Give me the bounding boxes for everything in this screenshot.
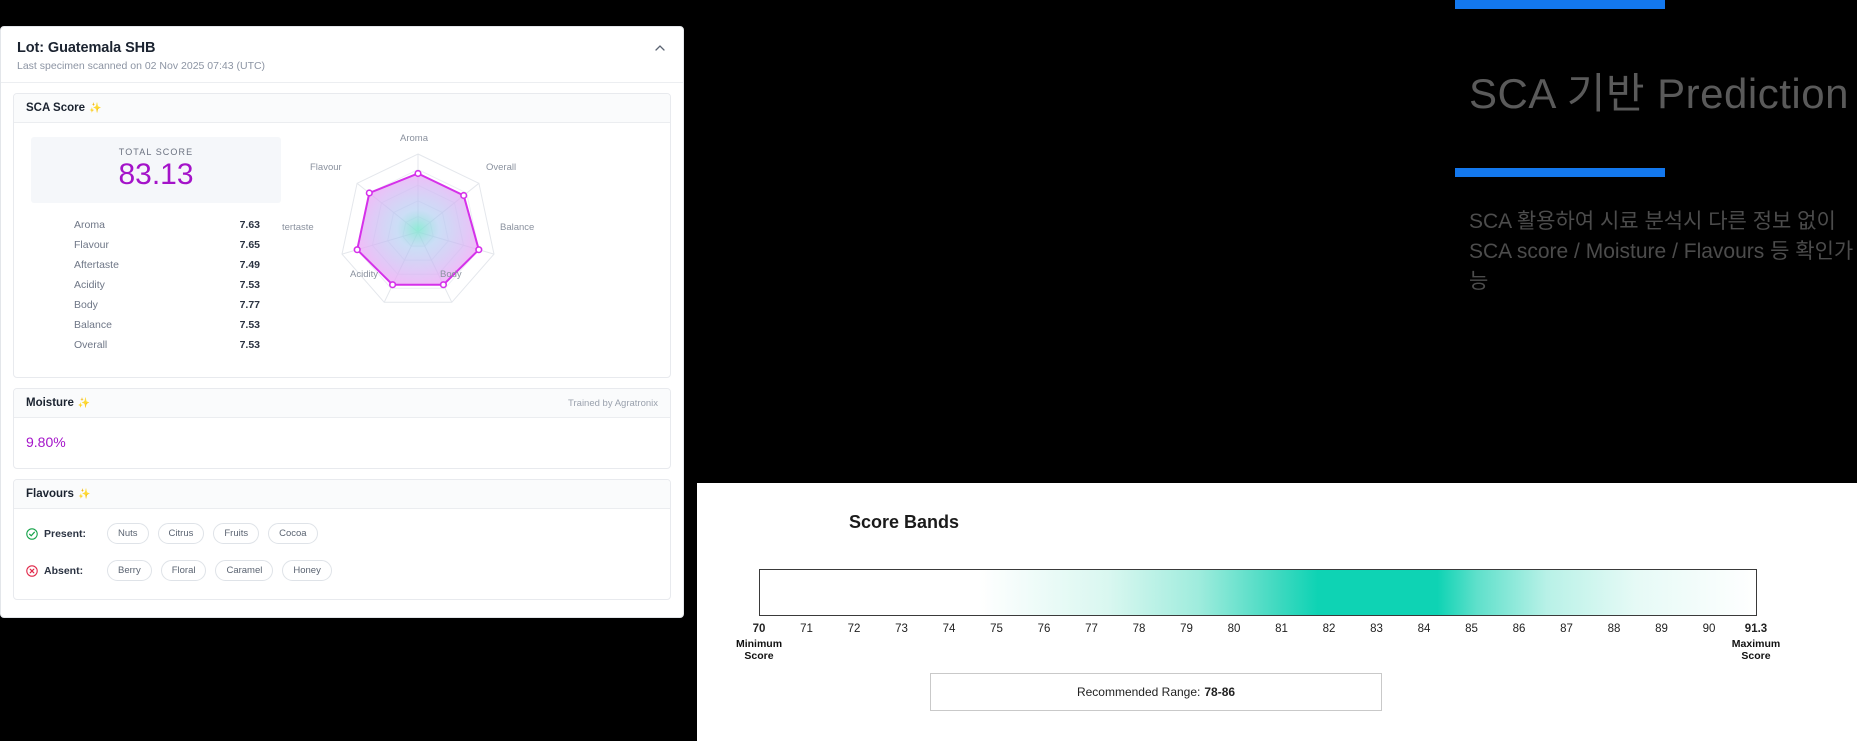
slide-subtitle: SCA 활용하여 시료 분석시 다른 정보 없이 SCA score / Moi… [1469, 205, 1857, 295]
moisture-title-text: Moisture [26, 397, 74, 409]
flavour-chip[interactable]: Cocoa [268, 523, 317, 544]
flavours-absent-label: Absent: [26, 565, 98, 577]
max-score-line2: Score [1741, 650, 1770, 662]
table-row: Balance 7.53 [74, 315, 260, 335]
axis-tick: 80 [1228, 623, 1241, 635]
sca-score-title-text: SCA Score [26, 102, 85, 114]
axis-tick: 78 [1133, 623, 1146, 635]
flavour-chip[interactable]: Fruits [213, 523, 259, 544]
radar-label-flavour: Flavour [310, 162, 342, 173]
sca-score-left: TOTAL SCORE 83.13 Aroma 7.63 Flavour 7.6… [26, 137, 284, 355]
sparkle-icon: ✨ [89, 103, 101, 114]
attribute-value: 7.49 [240, 259, 260, 271]
slide-title: SCA 기반 Prediction [1469, 60, 1849, 121]
recommended-range-value: 78-86 [1204, 685, 1235, 699]
attribute-value: 7.53 [240, 279, 260, 291]
axis-tick: 70 [753, 623, 766, 635]
flavours-present-label: Present: [26, 528, 98, 540]
sparkle-icon: ✨ [78, 489, 90, 500]
moisture-body: 9.80% [14, 418, 670, 468]
absent-label-text: Absent: [44, 565, 83, 577]
axis-tick: 79 [1180, 623, 1193, 635]
attribute-value: 7.53 [240, 339, 260, 351]
radar-label-acidity: Acidity [350, 269, 378, 280]
flavours-absent-row: Absent: Berry Floral Caramel Honey [26, 560, 658, 581]
sca-score-title: SCA Score ✨ [26, 102, 101, 114]
lot-card-header: Lot: Guatemala SHB Last specimen scanned… [1, 27, 683, 83]
radar-chart: Aroma Overall Balance Body Acidity terta… [288, 137, 548, 327]
moisture-title: Moisture ✨ [26, 397, 90, 409]
total-score-value: 83.13 [31, 158, 281, 191]
last-scanned-text: Last specimen scanned on 02 Nov 2025 07:… [17, 60, 667, 72]
radar-label-overall: Overall [486, 162, 516, 173]
sca-score-right: Aroma Overall Balance Body Acidity terta… [284, 137, 658, 355]
total-score-label: TOTAL SCORE [31, 147, 281, 157]
axis-tick: 90 [1703, 623, 1716, 635]
table-row: Flavour 7.65 [74, 235, 260, 255]
flavour-chip[interactable]: Honey [282, 560, 331, 581]
attribute-name: Aftertaste [74, 259, 119, 271]
table-row: Body 7.77 [74, 295, 260, 315]
sparkle-icon: ✨ [78, 398, 90, 409]
score-bands-panel: Score Bands 70 71 72 73 74 75 76 77 78 7… [697, 483, 1857, 741]
recommended-range-box: Recommended Range: 78-86 [930, 673, 1382, 711]
max-score-line1: Maximum [1732, 638, 1780, 650]
table-row: Acidity 7.53 [74, 275, 260, 295]
axis-tick: 72 [848, 623, 861, 635]
presentation-slide: SCA 기반 Prediction SCA 활용하여 시료 분석시 다른 정보 … [697, 0, 1857, 483]
attribute-name: Body [74, 299, 98, 311]
flavour-chip[interactable]: Berry [107, 560, 152, 581]
accent-bar-top [1455, 0, 1665, 9]
axis-tick: 73 [895, 623, 908, 635]
flavours-title: Flavours ✨ [26, 488, 90, 500]
axis-tick: 76 [1038, 623, 1051, 635]
sca-score-header: SCA Score ✨ [14, 94, 670, 123]
sca-attribute-list: Aroma 7.63 Flavour 7.65 Aftertaste 7.49 [26, 215, 284, 355]
axis-tick: 74 [943, 623, 956, 635]
attribute-name: Acidity [74, 279, 105, 291]
axis-tick: 84 [1418, 623, 1431, 635]
min-score-caption: Minimum Score [736, 638, 782, 662]
lot-card: Lot: Guatemala SHB Last specimen scanned… [0, 26, 684, 618]
chevron-up-icon[interactable] [653, 41, 667, 55]
axis-tick: 75 [990, 623, 1003, 635]
left-app-panel: Lot: Guatemala SHB Last specimen scanned… [0, 0, 697, 741]
attribute-value: 7.77 [240, 299, 260, 311]
total-score-box: TOTAL SCORE 83.13 [31, 137, 281, 203]
attribute-name: Aroma [74, 219, 105, 231]
moisture-section: Moisture ✨ Trained by Agratronix 9.80% [13, 388, 671, 469]
attribute-value: 7.65 [240, 239, 260, 251]
axis-tick: 88 [1608, 623, 1621, 635]
radar-label-aroma: Aroma [400, 133, 428, 144]
sca-score-section: SCA Score ✨ TOTAL SCORE 83.13 Aroma 7.63 [13, 93, 671, 378]
axis-tick: 83 [1370, 623, 1383, 635]
flavour-chip[interactable]: Caramel [215, 560, 273, 581]
check-circle-icon [26, 528, 38, 540]
table-row: Overall 7.53 [74, 335, 260, 355]
sca-score-body: TOTAL SCORE 83.13 Aroma 7.63 Flavour 7.6… [14, 123, 670, 377]
score-bands-gradient-bar [759, 569, 1757, 616]
accent-bar-middle [1455, 168, 1665, 177]
min-score-line1: Minimum [736, 638, 782, 650]
attribute-value: 7.63 [240, 219, 260, 231]
moisture-header: Moisture ✨ Trained by Agratronix [14, 389, 670, 418]
flavour-chip[interactable]: Nuts [107, 523, 149, 544]
radar-label-balance: Balance [500, 222, 534, 233]
flavour-chip[interactable]: Floral [161, 560, 207, 581]
page-title: Lot: Guatemala SHB [17, 40, 667, 56]
present-label-text: Present: [44, 528, 86, 540]
x-circle-icon [26, 565, 38, 577]
max-score-caption: Maximum Score [1732, 638, 1780, 662]
axis-tick: 77 [1085, 623, 1098, 635]
table-row: Aftertaste 7.49 [74, 255, 260, 275]
attribute-value: 7.53 [240, 319, 260, 331]
table-row: Aroma 7.63 [74, 215, 260, 235]
trained-by-label: Trained by Agratronix [568, 398, 658, 409]
attribute-name: Overall [74, 339, 107, 351]
axis-tick: 91.3 [1745, 623, 1767, 635]
moisture-value: 9.80% [26, 434, 658, 450]
radar-label-aftertaste: tertaste [282, 222, 314, 233]
flavours-body: Present: Nuts Citrus Fruits Cocoa Absent… [14, 509, 670, 599]
flavours-header: Flavours ✨ [14, 480, 670, 509]
attribute-name: Balance [74, 319, 112, 331]
chart-title: Score Bands [849, 512, 959, 533]
axis-tick: 87 [1560, 623, 1573, 635]
axis-tick: 82 [1323, 623, 1336, 635]
flavours-section: Flavours ✨ Present: Nuts Citrus Fruit [13, 479, 671, 600]
flavours-title-text: Flavours [26, 488, 74, 500]
axis-tick: 86 [1513, 623, 1526, 635]
recommended-range-prefix: Recommended Range: [1077, 685, 1200, 699]
flavours-present-row: Present: Nuts Citrus Fruits Cocoa [26, 523, 658, 544]
axis-tick: 89 [1655, 623, 1668, 635]
flavour-chip[interactable]: Citrus [158, 523, 205, 544]
axis-tick: 81 [1275, 623, 1288, 635]
axis-tick: 71 [800, 623, 813, 635]
min-score-line2: Score [744, 650, 773, 662]
background-fill [0, 618, 697, 741]
radar-label-body: Body [440, 269, 462, 280]
attribute-name: Flavour [74, 239, 109, 251]
axis-tick: 85 [1465, 623, 1478, 635]
